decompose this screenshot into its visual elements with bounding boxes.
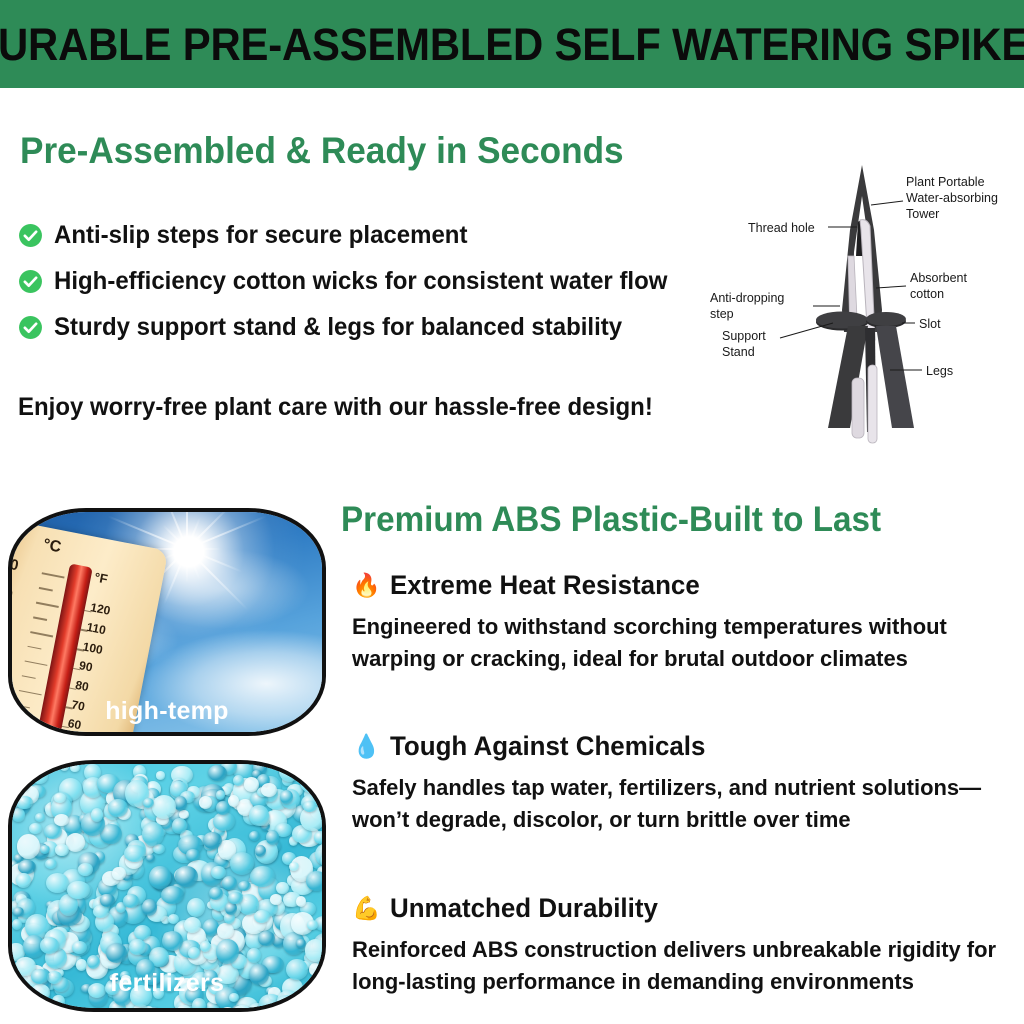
feature-title-label: Tough Against Chemicals	[390, 733, 705, 760]
label-anti-dropping-step-line1: Anti-dropping	[710, 291, 784, 305]
granule	[161, 886, 183, 904]
granule	[249, 964, 269, 984]
label-tower-line3: Tower	[906, 207, 939, 221]
granule	[309, 963, 321, 976]
granule	[162, 931, 184, 951]
thermometer-tick	[62, 726, 69, 729]
granule	[91, 808, 103, 821]
label-tower-line2: Water-absorbing	[906, 191, 998, 205]
thermometer-fahrenheit-tick-label: 100	[82, 640, 104, 656]
granule	[179, 810, 190, 819]
granule	[108, 799, 128, 816]
thermometer-tick	[66, 706, 73, 709]
granule	[70, 764, 80, 772]
label-thread-hole: Thread hole	[748, 221, 815, 235]
list-item-label: Sturdy support stand & legs for balanced…	[54, 315, 622, 340]
label-absorbent-cotton-line1: Absorbent	[910, 271, 968, 285]
label-legs: Legs	[926, 364, 953, 378]
thermometer-fahrenheit-tick-label: 120	[90, 601, 112, 617]
banner-title: DURABLE PRE-ASSEMBLED SELF WATERING SPIK…	[0, 22, 1024, 67]
granule	[40, 937, 60, 953]
granule	[238, 881, 251, 891]
granule	[149, 866, 170, 890]
thermometer-celsius-unit: °C	[42, 537, 63, 556]
granule	[203, 832, 222, 849]
thermometer-fahrenheit-tick-label: 60	[67, 717, 82, 731]
feature-title-label: Extreme Heat Resistance	[390, 572, 700, 599]
photo-fertilizers-image	[12, 764, 322, 1008]
list-item: Anti-slip steps for secure placement	[18, 212, 718, 258]
granule	[270, 894, 282, 905]
list-item-label: Anti-slip steps for secure placement	[54, 223, 467, 248]
label-support-stand-line1: Support	[722, 329, 766, 343]
granule	[314, 831, 322, 843]
thermometer-tick	[30, 631, 53, 637]
thermometer-fahrenheit-tick-label: 90	[78, 659, 93, 673]
granule	[311, 775, 322, 789]
feature-description: Engineered to withstand scorching temper…	[352, 611, 1021, 675]
granule	[228, 892, 242, 905]
list-item: Sturdy support stand & legs for balanced…	[18, 304, 718, 350]
granule	[55, 844, 69, 856]
granule	[18, 860, 36, 875]
granule	[129, 939, 145, 955]
granule	[249, 805, 268, 826]
granule	[186, 849, 200, 862]
thermometer-celsius-tick-label: 50	[12, 555, 20, 573]
granule	[52, 995, 64, 1008]
section-two-heading: Premium ABS Plastic-Built to Last	[341, 500, 881, 540]
label-support-stand-line2: Stand	[722, 345, 755, 359]
granule	[307, 920, 318, 930]
granule	[12, 774, 30, 792]
feature-description: Safely handles tap water, fertilizers, a…	[352, 772, 1021, 836]
granule	[109, 974, 119, 983]
granule	[130, 985, 153, 1007]
thermometer-tick	[39, 587, 53, 591]
granule	[174, 796, 187, 810]
granule	[16, 796, 32, 809]
granule	[203, 970, 218, 986]
thermometer-tick	[81, 629, 88, 632]
feature-title-label: Unmatched Durability	[390, 895, 658, 922]
granule	[142, 822, 164, 846]
thermometer-fahrenheit-unit: °F	[94, 571, 109, 586]
granule	[216, 801, 229, 815]
feature-block-heat-resistance: 🔥 Extreme Heat Resistance Engineered to …	[352, 572, 1020, 675]
granule	[306, 871, 322, 892]
granule	[305, 939, 322, 961]
thermometer-tick	[19, 690, 42, 696]
granule	[123, 894, 139, 907]
granule	[54, 814, 68, 826]
granule	[156, 771, 166, 780]
list-item: High-efficiency cotton wicks for consist…	[18, 258, 718, 304]
section-one-heading: Pre-Assembled & Ready in Seconds	[20, 130, 624, 172]
photo-high-temp: °C°F50403020100-10120110100908070605040 …	[8, 508, 326, 736]
granule	[31, 969, 49, 984]
check-circle-icon	[18, 269, 43, 294]
thermometer-tick	[16, 704, 30, 708]
granule	[13, 907, 24, 918]
granule	[314, 985, 322, 994]
photo-high-temp-image: °C°F50403020100-10120110100908070605040	[12, 512, 322, 732]
thermometer-tick	[73, 668, 80, 671]
granule	[44, 824, 61, 839]
granule	[112, 867, 125, 881]
feature-bullet-list: Anti-slip steps for secure placement Hig…	[18, 212, 718, 350]
granule	[286, 959, 308, 980]
feature-title-row: 💧 Tough Against Chemicals	[352, 733, 1020, 760]
granule	[143, 798, 154, 808]
granule	[121, 975, 131, 983]
granule	[29, 823, 42, 834]
granule	[106, 943, 127, 962]
section-one-tagline: Enjoy worry-free plant care with our has…	[18, 393, 653, 422]
granule	[146, 854, 155, 862]
label-tower-line1: Plant Portable	[906, 175, 985, 189]
label-anti-dropping-step-line2: step	[710, 307, 734, 321]
thermometer-tick	[22, 675, 36, 679]
feature-description: Reinforced ABS construction delivers unb…	[352, 934, 1021, 998]
granule	[31, 984, 50, 1001]
thermometer-tick	[13, 719, 36, 725]
feature-title-row: 🔥 Extreme Heat Resistance	[352, 572, 1020, 599]
photo-fertilizers: fertilizers	[8, 760, 326, 1012]
water-droplet-emoji: 💧	[352, 735, 381, 758]
granule	[152, 795, 176, 820]
thermometer-celsius-tick-label: 40	[12, 585, 14, 603]
spike-diagram-svg: Plant Portable Water-absorbing Tower Thr…	[700, 160, 1024, 450]
thermometer-tick	[36, 602, 59, 608]
granule	[216, 939, 239, 964]
spike-body	[816, 165, 914, 443]
granule	[303, 801, 317, 812]
granule	[17, 834, 40, 858]
granule	[208, 765, 227, 781]
granule	[216, 790, 225, 800]
flexed-bicep-emoji: 💪	[352, 897, 381, 920]
granule	[304, 991, 322, 1008]
granule	[93, 905, 108, 918]
thermometer-tick	[77, 648, 84, 651]
thermometer-tick	[42, 572, 65, 578]
granule	[172, 818, 187, 833]
check-circle-icon	[18, 223, 43, 248]
thermometer-tick	[27, 646, 41, 650]
thermometer-tick	[70, 687, 77, 690]
feature-block-chemical-resistance: 💧 Tough Against Chemicals Safely handles…	[352, 733, 1020, 836]
thermometer-tick	[24, 660, 47, 666]
granule	[261, 783, 278, 797]
granule	[276, 882, 288, 895]
granule	[247, 948, 261, 963]
granule	[229, 993, 240, 1002]
granule	[192, 998, 206, 1008]
thermometer-fahrenheit-tick-label: 70	[71, 698, 86, 712]
granule	[100, 894, 114, 906]
granule	[175, 866, 198, 887]
feature-title-row: 💪 Unmatched Durability	[352, 895, 1020, 922]
thermometer-fahrenheit-tick-label: 80	[75, 679, 90, 693]
granule	[280, 790, 293, 804]
thermometer-tick	[33, 616, 47, 620]
feature-block-durability: 💪 Unmatched Durability Reinforced ABS co…	[352, 895, 1020, 998]
granule	[279, 764, 300, 782]
granule	[142, 899, 158, 915]
self-watering-spike-diagram: Plant Portable Water-absorbing Tower Thr…	[700, 160, 1024, 450]
fire-emoji: 🔥	[352, 574, 381, 597]
granule	[266, 830, 279, 845]
granule	[88, 983, 106, 998]
granule	[12, 808, 25, 822]
granule	[67, 881, 90, 899]
thermometer-fahrenheit-tick-label: 110	[86, 621, 107, 636]
granule	[45, 859, 57, 869]
granule	[124, 845, 146, 862]
check-circle-icon	[18, 315, 43, 340]
granule	[254, 910, 271, 923]
granule	[275, 995, 298, 1008]
list-item-label: High-efficiency cotton wicks for consist…	[54, 269, 667, 294]
label-slot: Slot	[919, 317, 941, 331]
granule	[217, 923, 234, 939]
granule	[188, 947, 200, 959]
infographic-page: DURABLE PRE-ASSEMBLED SELF WATERING SPIK…	[0, 0, 1024, 1024]
header-banner: DURABLE PRE-ASSEMBLED SELF WATERING SPIK…	[0, 0, 1024, 88]
thermometer-tick	[85, 610, 92, 613]
label-absorbent-cotton-line2: cotton	[910, 287, 944, 301]
granule	[230, 852, 255, 874]
